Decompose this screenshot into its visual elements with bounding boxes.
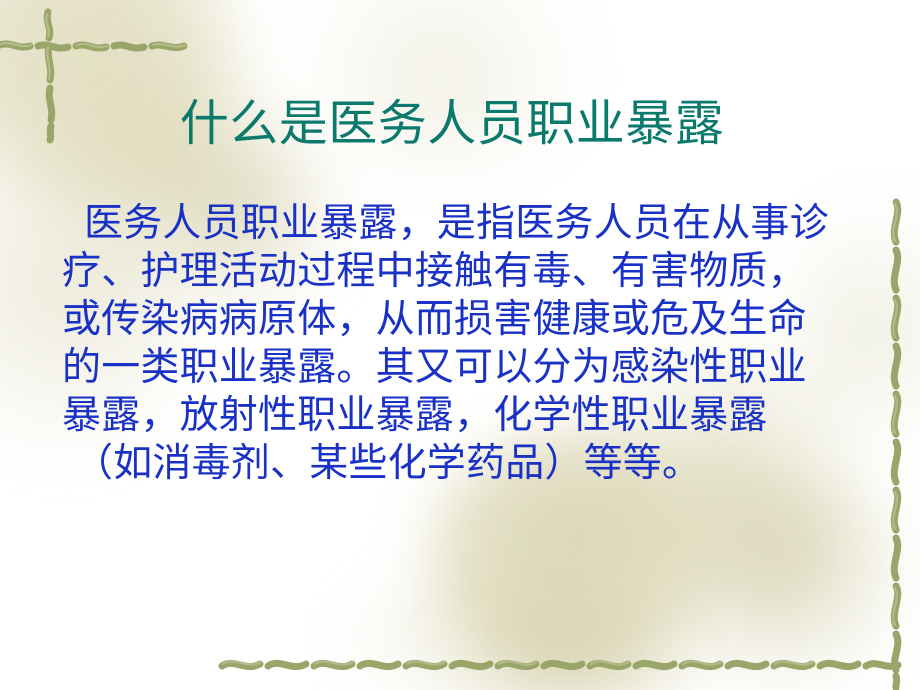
wash-blob-bottom-center [440, 600, 700, 690]
body-line-6: （如消毒剂、某些化学药品）等等。 [62, 440, 882, 488]
body-paragraph: 医务人员职业暴露，是指医务人员在从事诊 疗、护理活动过程中接触有毒、有害物质， … [62, 200, 882, 488]
body-line-5: 暴露，放射性职业暴露，化学性职业暴露 [62, 392, 882, 440]
body-line-4: 的一类职业暴露。其又可以分为感染性职业 [62, 344, 882, 392]
body-line-2: 疗、护理活动过程中接触有毒、有害物质， [62, 248, 882, 296]
bamboo-stem-right-icon [878, 198, 920, 690]
wash-blob-center-c [640, 470, 920, 690]
body-line-3: 或传染病病原体，从而损害健康或危及生命 [62, 296, 882, 344]
page-title: 什么是医务人员职业暴露 [0, 96, 920, 152]
slide-canvas: 什么是医务人员职业暴露 医务人员职业暴露，是指医务人员在从事诊 疗、护理活动过程… [0, 0, 920, 690]
wash-blob-bottom-right [330, 560, 750, 690]
bamboo-branch-bottom-icon [218, 640, 918, 690]
body-line-1: 医务人员职业暴露，是指医务人员在从事诊 [62, 200, 882, 248]
